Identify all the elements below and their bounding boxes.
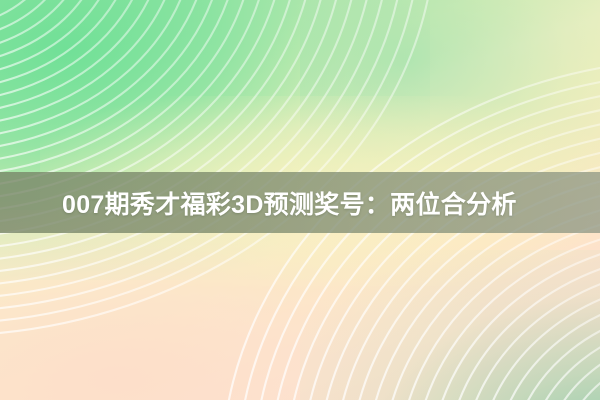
- background-gradient-teal-bottom-right: [300, 250, 600, 400]
- page-title: 007期秀才福彩3D预测奖号：两位合分析: [62, 172, 517, 233]
- promo-banner: 007期秀才福彩3D预测奖号：两位合分析: [0, 0, 600, 400]
